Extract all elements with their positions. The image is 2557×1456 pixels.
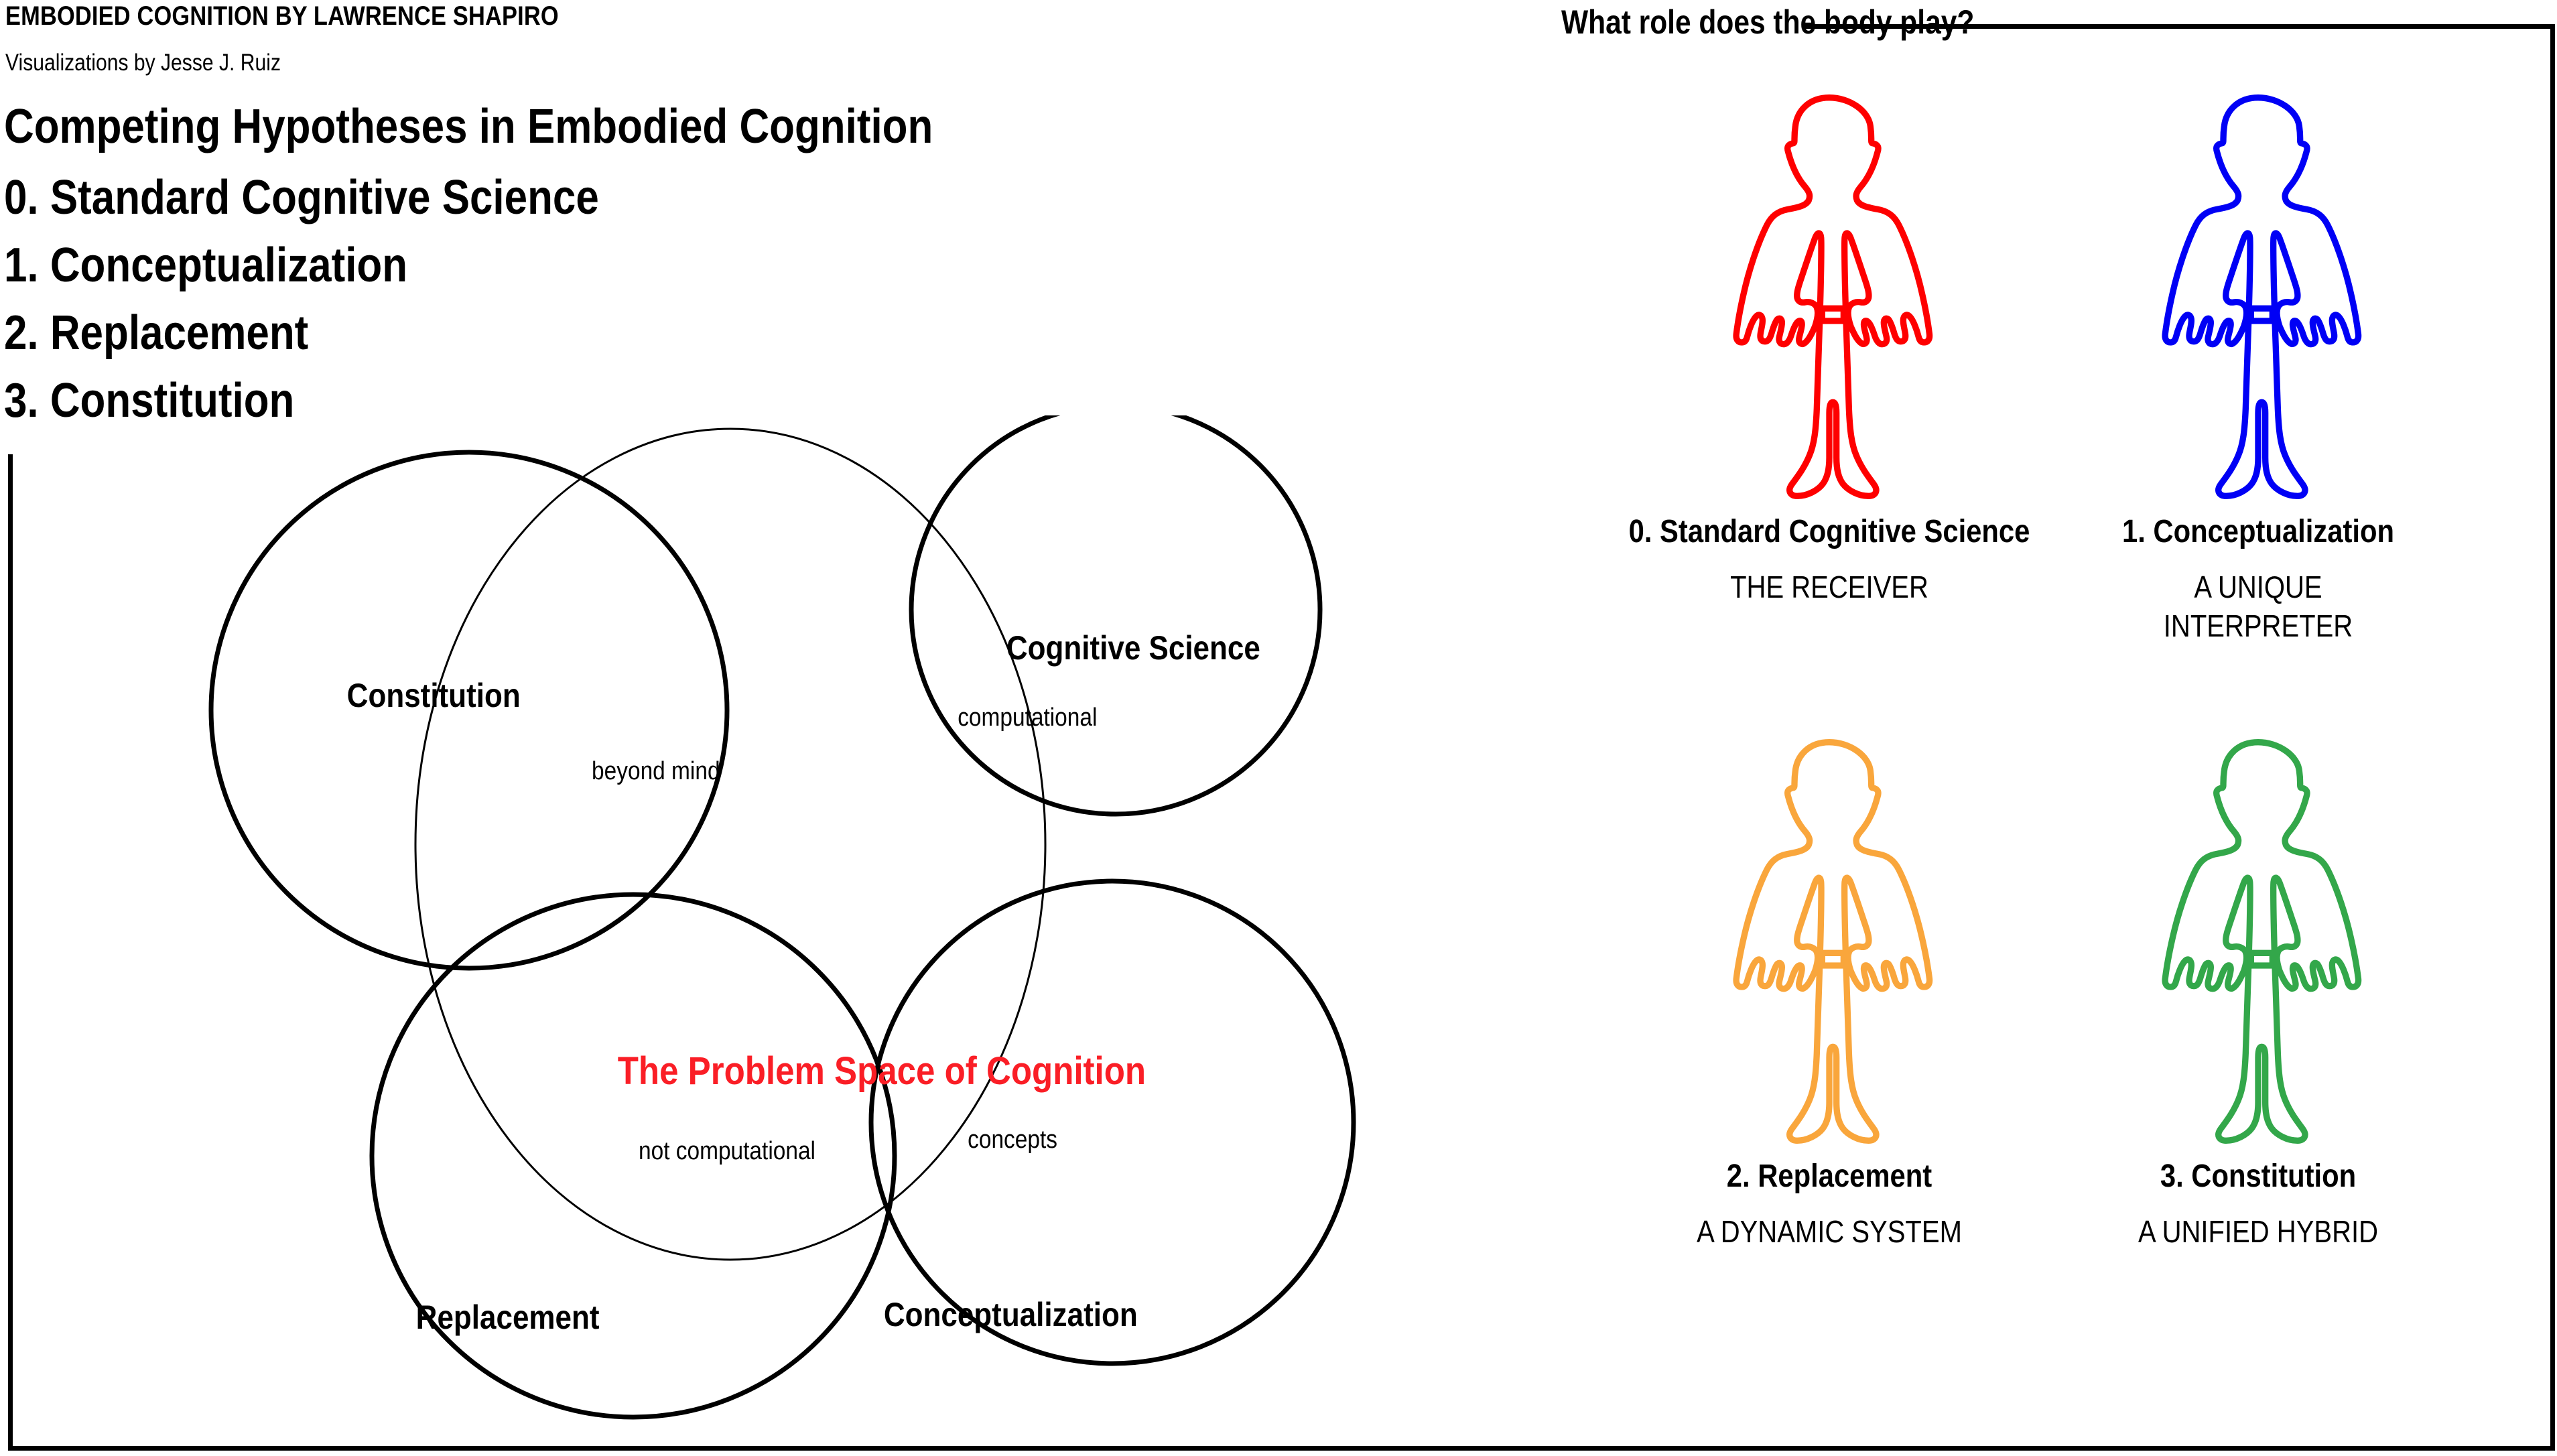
venn-circle-replacement [372, 895, 895, 1417]
venn-diagram: Constitution Cognitive Science Replaceme… [188, 415, 1407, 1420]
venn-region-computational: computational [958, 704, 1097, 732]
venn-label-conceptualization: Conceptualization [884, 1295, 1138, 1334]
venn-svg [188, 415, 1407, 1420]
venn-region-not-computational: not computational [639, 1137, 815, 1166]
venn-center-title: The Problem Space of Cognition [618, 1049, 1146, 1094]
poster-byline: Visualizations by Jesse J. Ruiz [5, 50, 281, 76]
venn-circle-conceptualization [871, 881, 1354, 1364]
poster-kicker: EMBODIED COGNITION BY LAWRENCE SHAPIRO [5, 1, 559, 31]
body-card-3: 3. Constitution A UNIFIED HYBRID [2024, 730, 2493, 1251]
hypotheses-list: 0. Standard Cognitive Science 1. Concept… [4, 164, 696, 435]
page-title: Competing Hypotheses in Embodied Cogniti… [4, 99, 933, 154]
body-card-3-number: 3. Constitution [2054, 1158, 2463, 1195]
human-body-outline-icon [1722, 730, 1937, 1152]
body-card-2-role: A DYNAMIC SYSTEM [1626, 1212, 2034, 1251]
venn-label-constitution: Constitution [347, 676, 521, 715]
body-panel-question: What role does the body play? [1561, 3, 1974, 42]
human-body-outline-icon [2151, 730, 2365, 1152]
poster-canvas: EMBODIED COGNITION BY LAWRENCE SHAPIRO V… [0, 0, 2557, 1456]
human-body-outline-icon [1722, 86, 1937, 508]
body-card-1: 1. Conceptualization A UNIQUE INTERPRETE… [2024, 86, 2493, 645]
body-card-3-role: A UNIFIED HYBRID [2054, 1212, 2463, 1251]
frame-right-rule [2550, 24, 2555, 1451]
venn-region-concepts: concepts [968, 1126, 1057, 1154]
body-card-2: 2. Replacement A DYNAMIC SYSTEM [1595, 730, 2064, 1251]
venn-label-replacement: Replacement [416, 1298, 600, 1337]
body-card-0-role: THE RECEIVER [1626, 568, 2034, 606]
venn-circle-cognitive-science [911, 415, 1320, 814]
list-item: 1. Conceptualization [4, 232, 599, 300]
body-card-0: 0. Standard Cognitive Science THE RECEIV… [1595, 86, 2064, 606]
frame-left-rule [8, 454, 13, 1451]
body-card-2-number: 2. Replacement [1626, 1158, 2034, 1195]
venn-label-cognitive-science: Cognitive Science [1006, 628, 1260, 667]
list-item: 2. Replacement [4, 300, 599, 367]
body-card-1-role: A UNIQUE INTERPRETER [2054, 568, 2463, 645]
venn-region-beyond-mind: beyond mind [592, 757, 720, 786]
list-item: 0. Standard Cognitive Science [4, 164, 599, 232]
frame-bottom-rule [8, 1446, 2554, 1451]
body-card-0-number: 0. Standard Cognitive Science [1626, 513, 2034, 550]
venn-problem-space-ellipse [415, 429, 1045, 1260]
body-card-1-number: 1. Conceptualization [2054, 513, 2463, 550]
human-body-outline-icon [2151, 86, 2365, 508]
